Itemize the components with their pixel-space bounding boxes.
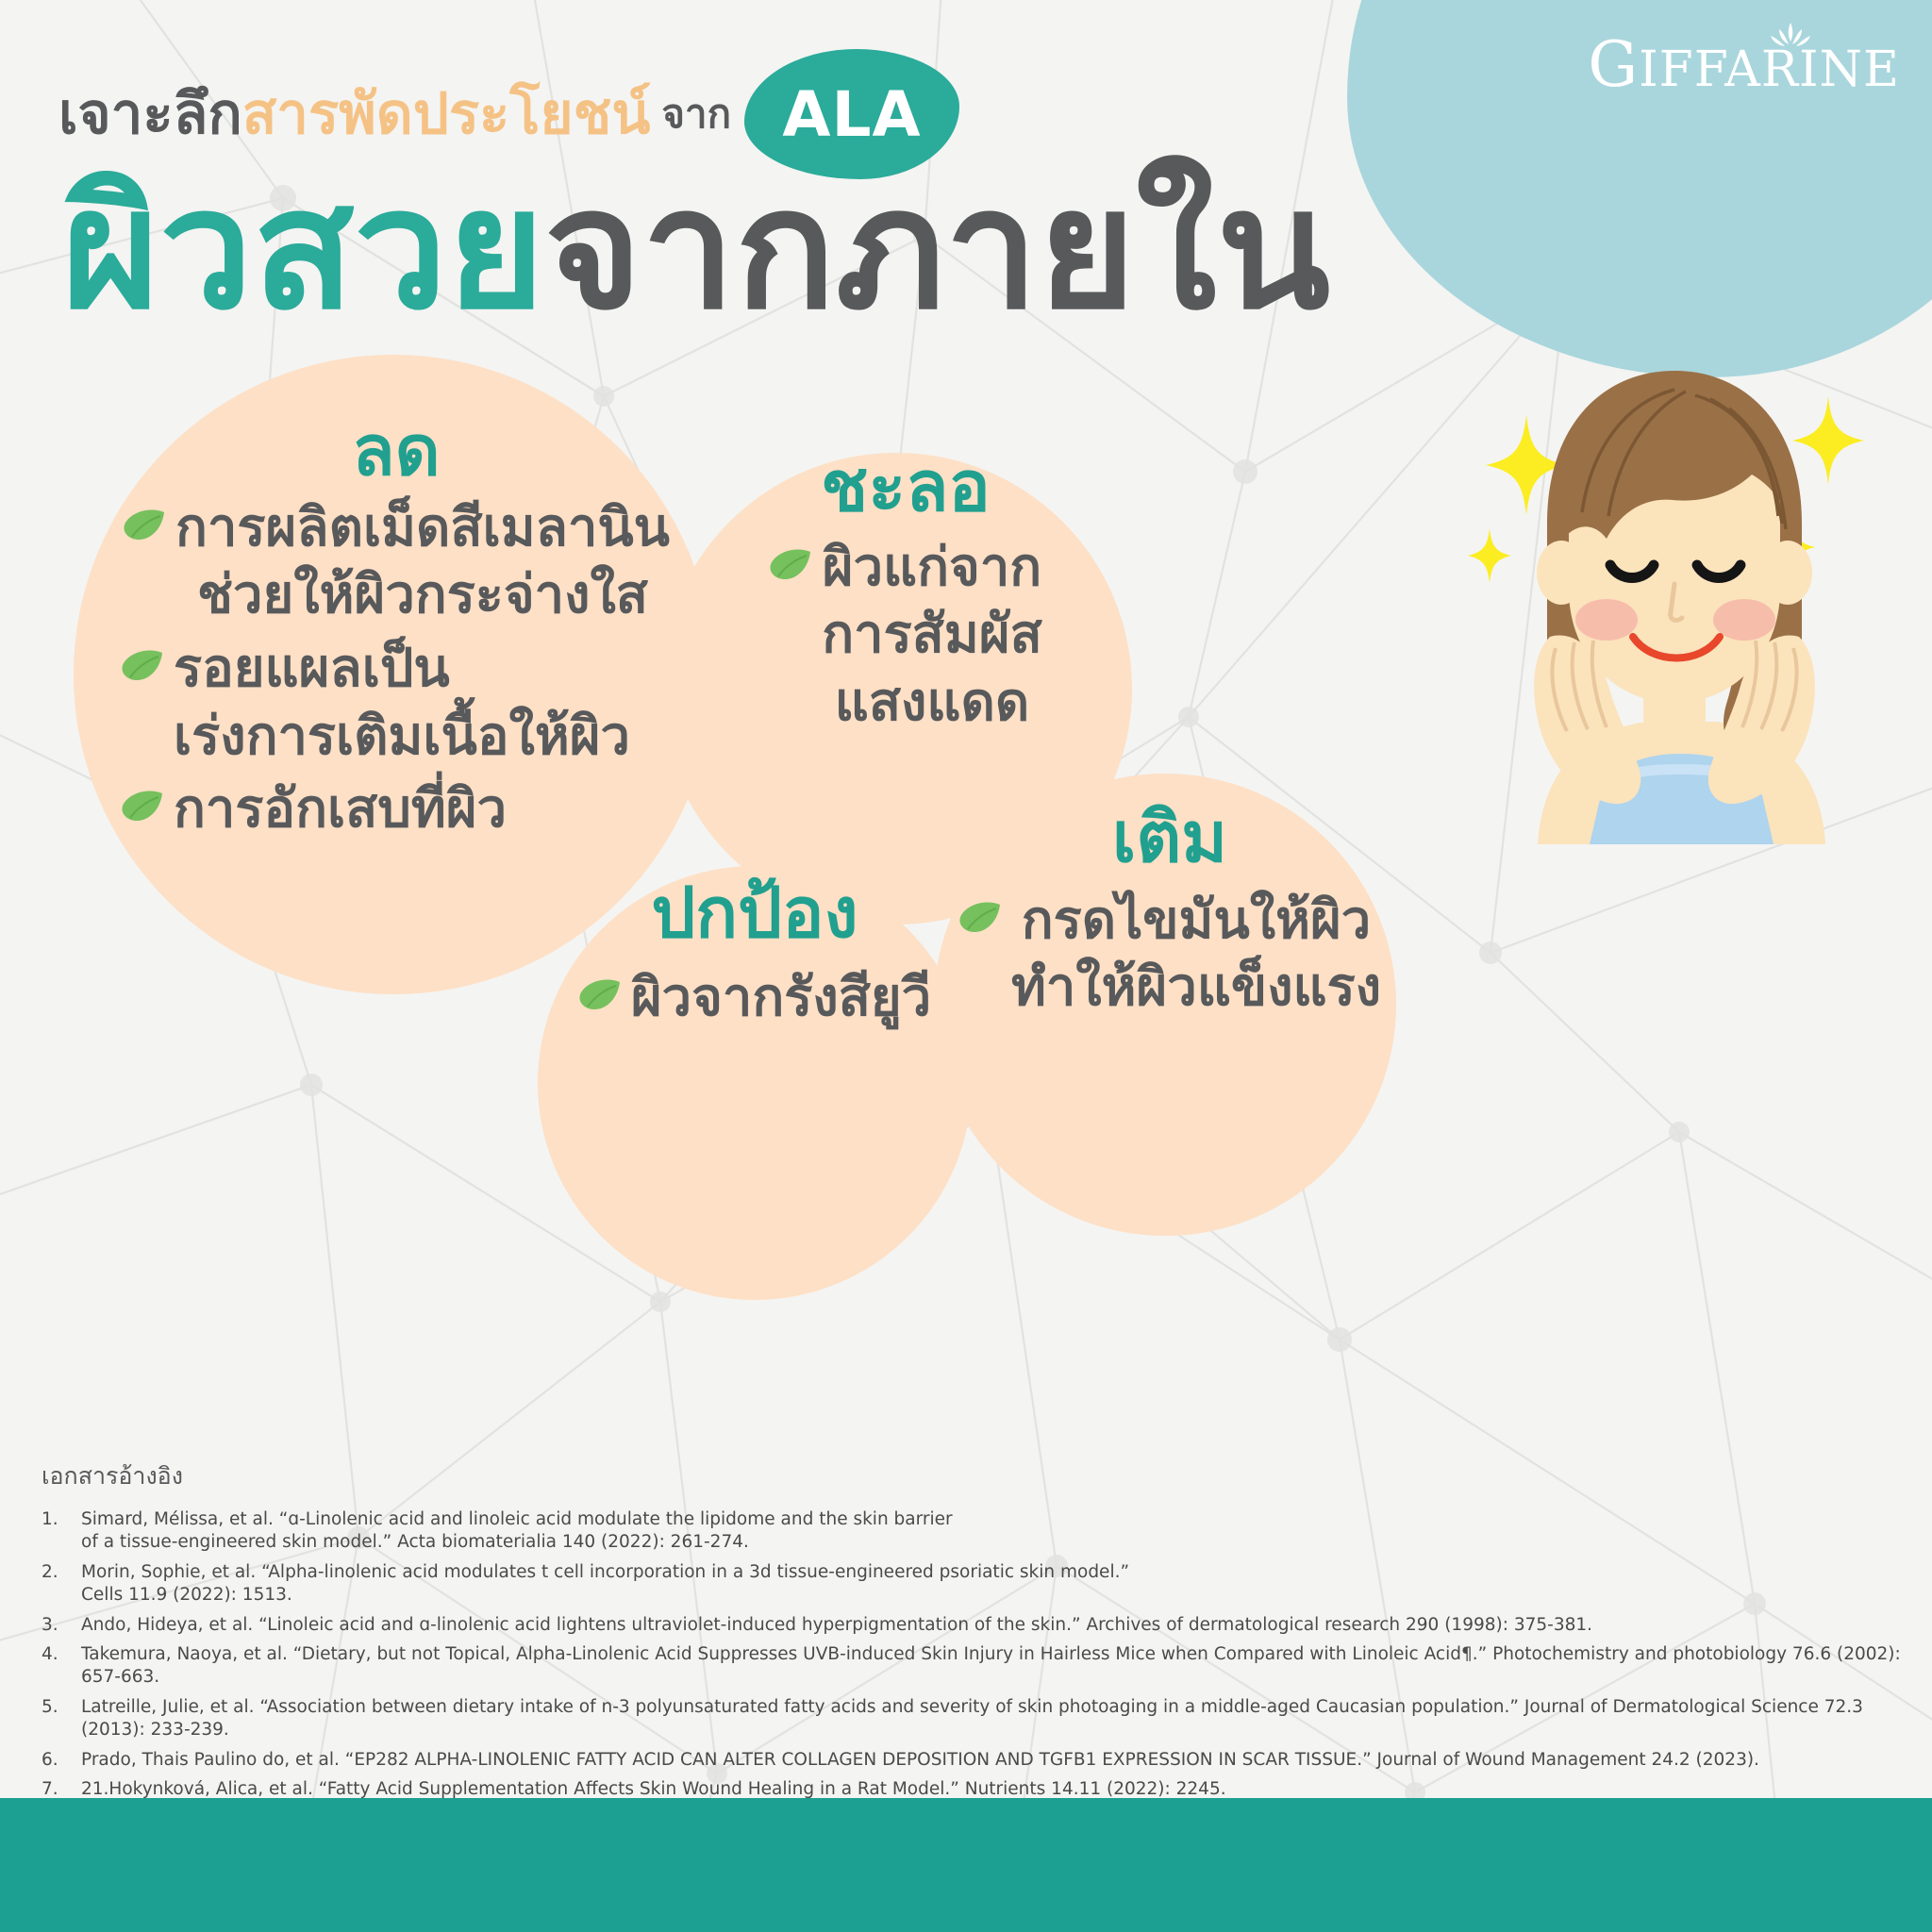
bullet-line: ช่วยให้ผิวกระจ่างใส: [197, 564, 648, 625]
bullet-line: การผลิตเม็ดสีเมลานิน: [175, 497, 670, 558]
bullet-line: การอักเสบที่ผิว: [174, 778, 507, 840]
bullet-item: การอักเสบที่ผิว: [94, 775, 698, 843]
bullet-text: กรดไขมันให้ผิว ทำให้ผิวแข็งแรง: [1011, 887, 1381, 1022]
reference-number: 5.: [42, 1696, 81, 1742]
leaf-icon: [958, 902, 1002, 934]
reference-line: Takemura, Naoya, et al. “Dietary, but no…: [81, 1643, 1909, 1690]
reference-text: Takemura, Naoya, et al. “Dietary, but no…: [81, 1643, 1909, 1690]
bullet-text: รอยแผลเป็น เร่งการเติมเนื้อให้ผิว: [174, 635, 630, 770]
benefit-title-reduce: ลด: [94, 415, 698, 489]
reference-item: 2. Morin, Sophie, et al. “Alpha-linoleni…: [42, 1561, 1909, 1607]
bullet-item: รอยแผลเป็น เร่งการเติมเนื้อให้ผิว: [94, 635, 698, 770]
reference-text: Prado, Thais Paulino do, et al. “EP282 A…: [81, 1749, 1909, 1772]
benefit-block-reduce: ลด การผลิตเม็ดสีเมลานิน ช่วยให้ผิวกระจ่า…: [94, 415, 698, 843]
bullet-line: ผิวจากรังสียูวี: [631, 967, 931, 1028]
page-title-dark: จากภายใน: [544, 153, 1330, 346]
benefit-title-add: เติม: [934, 802, 1406, 875]
leaf-icon: [769, 549, 812, 581]
bullet-item: กรดไขมันให้ผิว ทำให้ผิวแข็งแรง: [934, 887, 1406, 1022]
references-title: เอกสารอ้างอิง: [42, 1457, 1909, 1495]
benefit-block-add: เติม กรดไขมันให้ผิว ทำให้ผิวแข็งแรง: [934, 802, 1406, 1022]
bullet-line: ผิวแก่จาก: [823, 537, 1041, 598]
bullet-line: เร่งการเติมเนื้อให้ผิว: [174, 706, 630, 767]
reference-item: 1. Simard, Mélissa, et al. “ɑ-Linolenic …: [42, 1508, 1909, 1555]
reference-text: Ando, Hideya, et al. “Linoleic acid and …: [81, 1614, 1909, 1637]
reference-line: Prado, Thais Paulino do, et al. “EP282 A…: [81, 1749, 1909, 1772]
infographic-poster: G IFFARINE เจาะลึก สารพัดประโยชน์ จาก AL…: [0, 0, 1932, 1932]
reference-number: 1.: [42, 1508, 81, 1555]
reference-number: 2.: [42, 1561, 81, 1607]
reference-item: 5. Latreille, Julie, et al. “Association…: [42, 1696, 1909, 1742]
bullet-line: แสงแดด: [835, 672, 1029, 733]
reference-line: of a tissue-engineered skin model.” Acta…: [81, 1531, 1909, 1554]
crown-icon: [1762, 21, 1819, 55]
bullet-text: ผิวจากรังสียูวี: [631, 964, 931, 1032]
reference-item: 6. Prado, Thais Paulino do, et al. “EP28…: [42, 1749, 1909, 1772]
bullet-text: การผลิตเม็ดสีเมลานิน ช่วยให้ผิวกระจ่างใส: [175, 494, 670, 629]
brand-logo-initial: G: [1588, 28, 1639, 101]
reference-line: Morin, Sophie, et al. “Alpha-linolenic a…: [81, 1561, 1909, 1584]
brand-logo: G IFFARINE: [1588, 28, 1900, 101]
reference-item: 4. Takemura, Naoya, et al. “Dietary, but…: [42, 1643, 1909, 1690]
bullet-item: ผิวจากรังสียูวี: [547, 964, 962, 1032]
bullet-line: ทำให้ผิวแข็งแรง: [1011, 957, 1381, 1018]
kicker-dark-text: เจาะลึก: [58, 86, 242, 142]
benefit-block-protect: ปกป้อง ผิวจากรังสียูวี: [547, 877, 962, 1031]
reference-number: 4.: [42, 1643, 81, 1690]
bullet-item: ผิวแก่จาก การสัมผัส แสงแดด: [717, 534, 1094, 737]
reference-line: Ando, Hideya, et al. “Linoleic acid and …: [81, 1614, 1909, 1637]
bullet-text: ผิวแก่จาก การสัมผัส แสงแดด: [822, 534, 1042, 737]
benefit-block-slow: ชะลอ ผิวแก่จาก การสัมผัส แสงแดด: [717, 451, 1094, 737]
reference-line: Cells 11.9 (2022): 1513.: [81, 1584, 1909, 1607]
benefit-title-slow: ชะลอ: [717, 451, 1094, 525]
leaf-icon: [578, 979, 622, 1011]
woman-touching-cheeks-illustration: [1457, 354, 1891, 844]
reference-number: 3.: [42, 1614, 81, 1637]
kicker-small-text: จาก: [661, 94, 731, 134]
bottom-bar: [0, 1798, 1932, 1932]
leaf-icon: [121, 791, 164, 823]
bullet-item: การผลิตเม็ดสีเมลานิน ช่วยให้ผิวกระจ่างใส: [94, 494, 698, 629]
reference-number: 6.: [42, 1749, 81, 1772]
bullet-text: การอักเสบที่ผิว: [174, 775, 507, 843]
references-section: เอกสารอ้างอิง 1. Simard, Mélissa, et al.…: [42, 1457, 1909, 1807]
page-title-teal: ผิวสวย: [62, 153, 544, 346]
leaf-icon: [123, 509, 166, 541]
leaf-icon: [121, 650, 164, 682]
reference-text: Latreille, Julie, et al. “Association be…: [81, 1696, 1909, 1742]
bullet-line: รอยแผลเป็น: [174, 638, 450, 699]
bullet-line: กรดไขมันให้ผิว: [1022, 890, 1372, 951]
reference-text: Simard, Mélissa, et al. “ɑ-Linolenic aci…: [81, 1508, 1909, 1555]
reference-text: Morin, Sophie, et al. “Alpha-linolenic a…: [81, 1561, 1909, 1607]
bullet-line: การสัมผัส: [822, 604, 1042, 665]
benefit-title-protect: ปกป้อง: [547, 877, 962, 951]
reference-line: Simard, Mélissa, et al. “ɑ-Linolenic aci…: [81, 1508, 1909, 1531]
page-title: ผิวสวยจากภายใน: [62, 158, 1330, 341]
kicker-orange-text: สารพัดประโยชน์: [242, 86, 651, 142]
reference-item: 3. Ando, Hideya, et al. “Linoleic acid a…: [42, 1614, 1909, 1637]
ala-badge-label: ALA: [782, 78, 921, 151]
reference-line: Latreille, Julie, et al. “Association be…: [81, 1696, 1909, 1742]
